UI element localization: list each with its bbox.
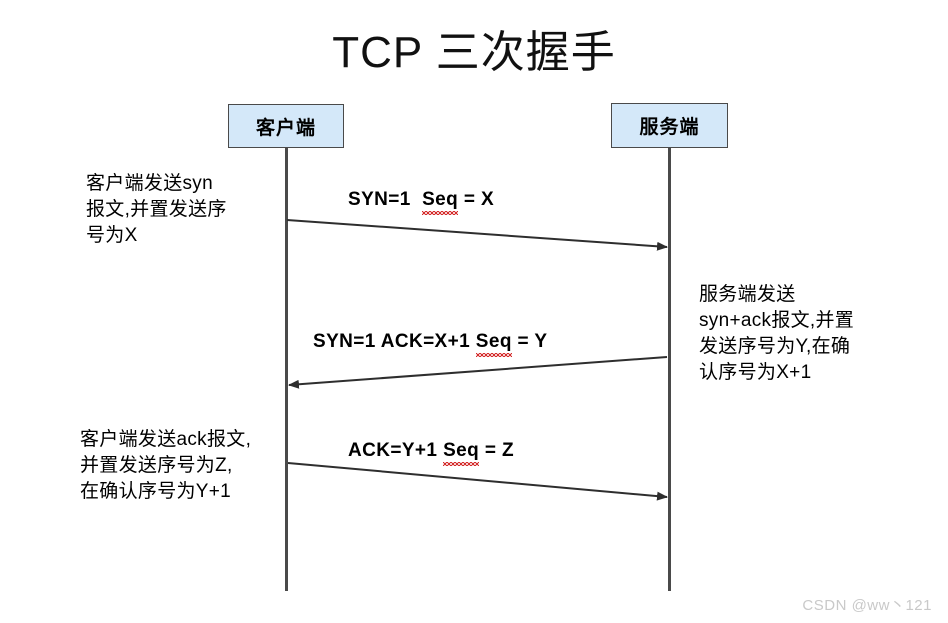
message-arrow-2 [289,357,667,385]
participant-box-client: 客户端 [228,104,344,148]
page-title: TCP 三次握手 [0,16,948,80]
message-2-spellcheck-word: Seq [476,331,512,353]
message-2-part-a: SYN=1 ACK=X+1 [313,331,470,352]
annotation-client-ack: 客户端发送ack报文, 并置发送序号为Z, 在确认序号为Y+1 [80,427,285,505]
diagram-canvas: TCP 三次握手 客户端 服务端 SYN=1 Seq = X SYN=1 ACK… [0,0,948,623]
participant-box-server: 服务端 [611,103,728,148]
message-label-3: ACK=Y+1 Seq = Z [348,440,514,462]
message-3-spellcheck-word: Seq [443,440,479,462]
message-arrow-3 [288,463,667,497]
watermark: CSDN @ww丶121 [802,594,932,615]
message-1-part-b: = X [464,189,494,210]
message-label-1: SYN=1 Seq = X [348,189,494,211]
annotation-client-syn: 客户端发送syn 报文,并置发送序 号为X [86,171,276,249]
message-label-2: SYN=1 ACK=X+1 Seq = Y [313,331,547,353]
annotation-server-synack: 服务端发送 syn+ack报文,并置 发送序号为Y,在确 认序号为X+1 [699,282,929,386]
lifeline-client [285,148,288,591]
lifeline-server [668,148,671,591]
message-1-part-a: SYN=1 [348,189,411,210]
message-3-part-a: ACK=Y+1 [348,440,437,461]
message-1-spellcheck-word: Seq [422,189,458,211]
message-2-part-b: = Y [518,331,548,352]
message-arrow-1 [287,220,667,247]
message-3-part-b: = Z [485,440,514,461]
participant-label-server: 服务端 [639,112,699,139]
participant-label-client: 客户端 [256,113,316,140]
